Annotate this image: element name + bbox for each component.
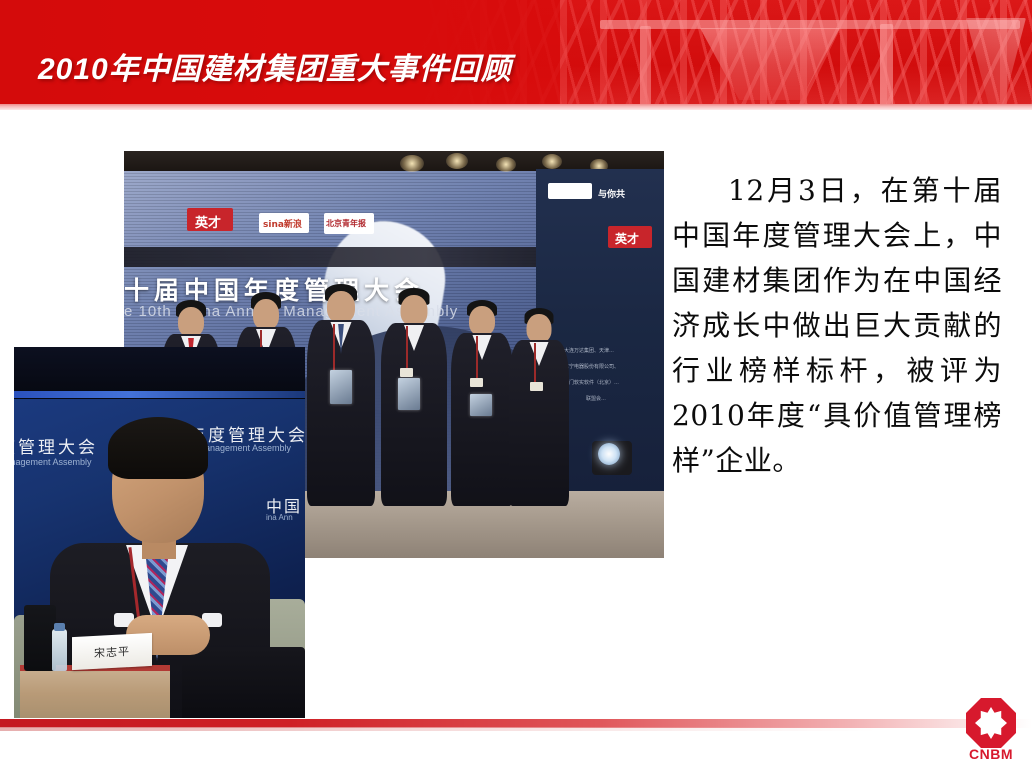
header-bottom-edge <box>0 104 1032 110</box>
ceiling-spotlight <box>542 154 562 169</box>
award-recipient <box>306 284 376 506</box>
inset-name-placard: 宋志平 <box>72 633 152 670</box>
person-head <box>327 291 355 323</box>
inset-backdrop-en-right: ina Ann <box>266 513 293 522</box>
inset-table <box>20 665 170 718</box>
person-badge <box>400 368 413 377</box>
inset-water-bottle <box>52 629 67 671</box>
cnbm-logo: CNBM <box>960 698 1022 760</box>
award-trophy <box>398 378 420 410</box>
person-badge <box>470 378 483 387</box>
ceiling-spotlight <box>496 157 516 172</box>
award-recipient <box>508 308 570 506</box>
inset-bottle-cap <box>54 623 65 631</box>
sponsor-logo-sina-label: sina新浪 <box>263 217 302 230</box>
person-lanyard <box>406 326 408 370</box>
award-trophy <box>330 370 352 404</box>
sponsor-logo-yingcai: 英才 <box>187 208 233 231</box>
executive-portrait-photo: 度管理大会 Management Assembly 年度管理大会 al Mana… <box>14 347 305 718</box>
inset-backdrop-en-left: Management Assembly <box>14 457 92 467</box>
body-paragraph: 12月3日，在第十届中国年度管理大会上，中国建材集团作为在中国经济成长中做出巨大… <box>672 168 1002 483</box>
ceiling-spotlight <box>446 153 468 169</box>
footer-accent-line-secondary <box>0 727 1032 731</box>
header-banner: 2010年中国建材集团重大事件回顾 <box>0 0 1032 110</box>
side-panel-yingcai-label: 英才 <box>615 230 639 247</box>
screen-dark-band <box>124 247 554 267</box>
sponsor-logo-yingcai-label: 英才 <box>195 212 221 231</box>
award-trophy <box>470 394 492 416</box>
ceiling-spotlight <box>400 155 424 172</box>
sponsor-logo-bqb: 北京青年报 <box>324 213 374 234</box>
side-panel-yingcai-box: 英才 <box>608 226 652 248</box>
side-panel-partner-label: 与你共 <box>598 187 625 200</box>
person-head <box>469 306 495 336</box>
stage-light-lens <box>598 443 620 465</box>
side-panel-line: 厦门软实软件（北京）… <box>564 379 619 386</box>
side-panel-partner-logo <box>548 183 592 199</box>
header-column-shape <box>880 24 893 110</box>
side-panel-line: 联盟会… <box>586 395 606 402</box>
person-head <box>178 307 204 337</box>
portrait-leg <box>182 647 305 718</box>
person-head <box>401 295 428 326</box>
side-panel-line: 大连万达集团、天津… <box>564 347 614 354</box>
person-badge <box>530 382 543 391</box>
sponsor-logo-bqb-label: 北京青年报 <box>326 218 366 229</box>
portrait-hair <box>108 417 208 479</box>
inset-backdrop-text-left: 度管理大会 <box>14 433 98 458</box>
award-recipient <box>450 300 514 506</box>
person-lanyard <box>333 324 335 370</box>
slide-title: 2010年中国建材集团重大事件回顾 <box>38 44 512 88</box>
person-head <box>527 314 552 343</box>
award-recipient <box>380 288 448 506</box>
sponsor-logo-sina: sina新浪 <box>259 213 309 233</box>
header-beam-shape <box>600 20 1020 29</box>
person-lanyard <box>534 343 536 383</box>
header-column-shape-2 <box>640 26 651 110</box>
side-panel-line: 苏宁电器股份有限公司、 <box>564 363 619 370</box>
cnbm-logo-label: CNBM <box>960 746 1022 762</box>
inset-name-placard-label: 宋志平 <box>72 633 152 662</box>
person-head <box>253 299 279 330</box>
person-lanyard <box>476 336 478 380</box>
inset-blue-highlight-line <box>14 391 305 398</box>
